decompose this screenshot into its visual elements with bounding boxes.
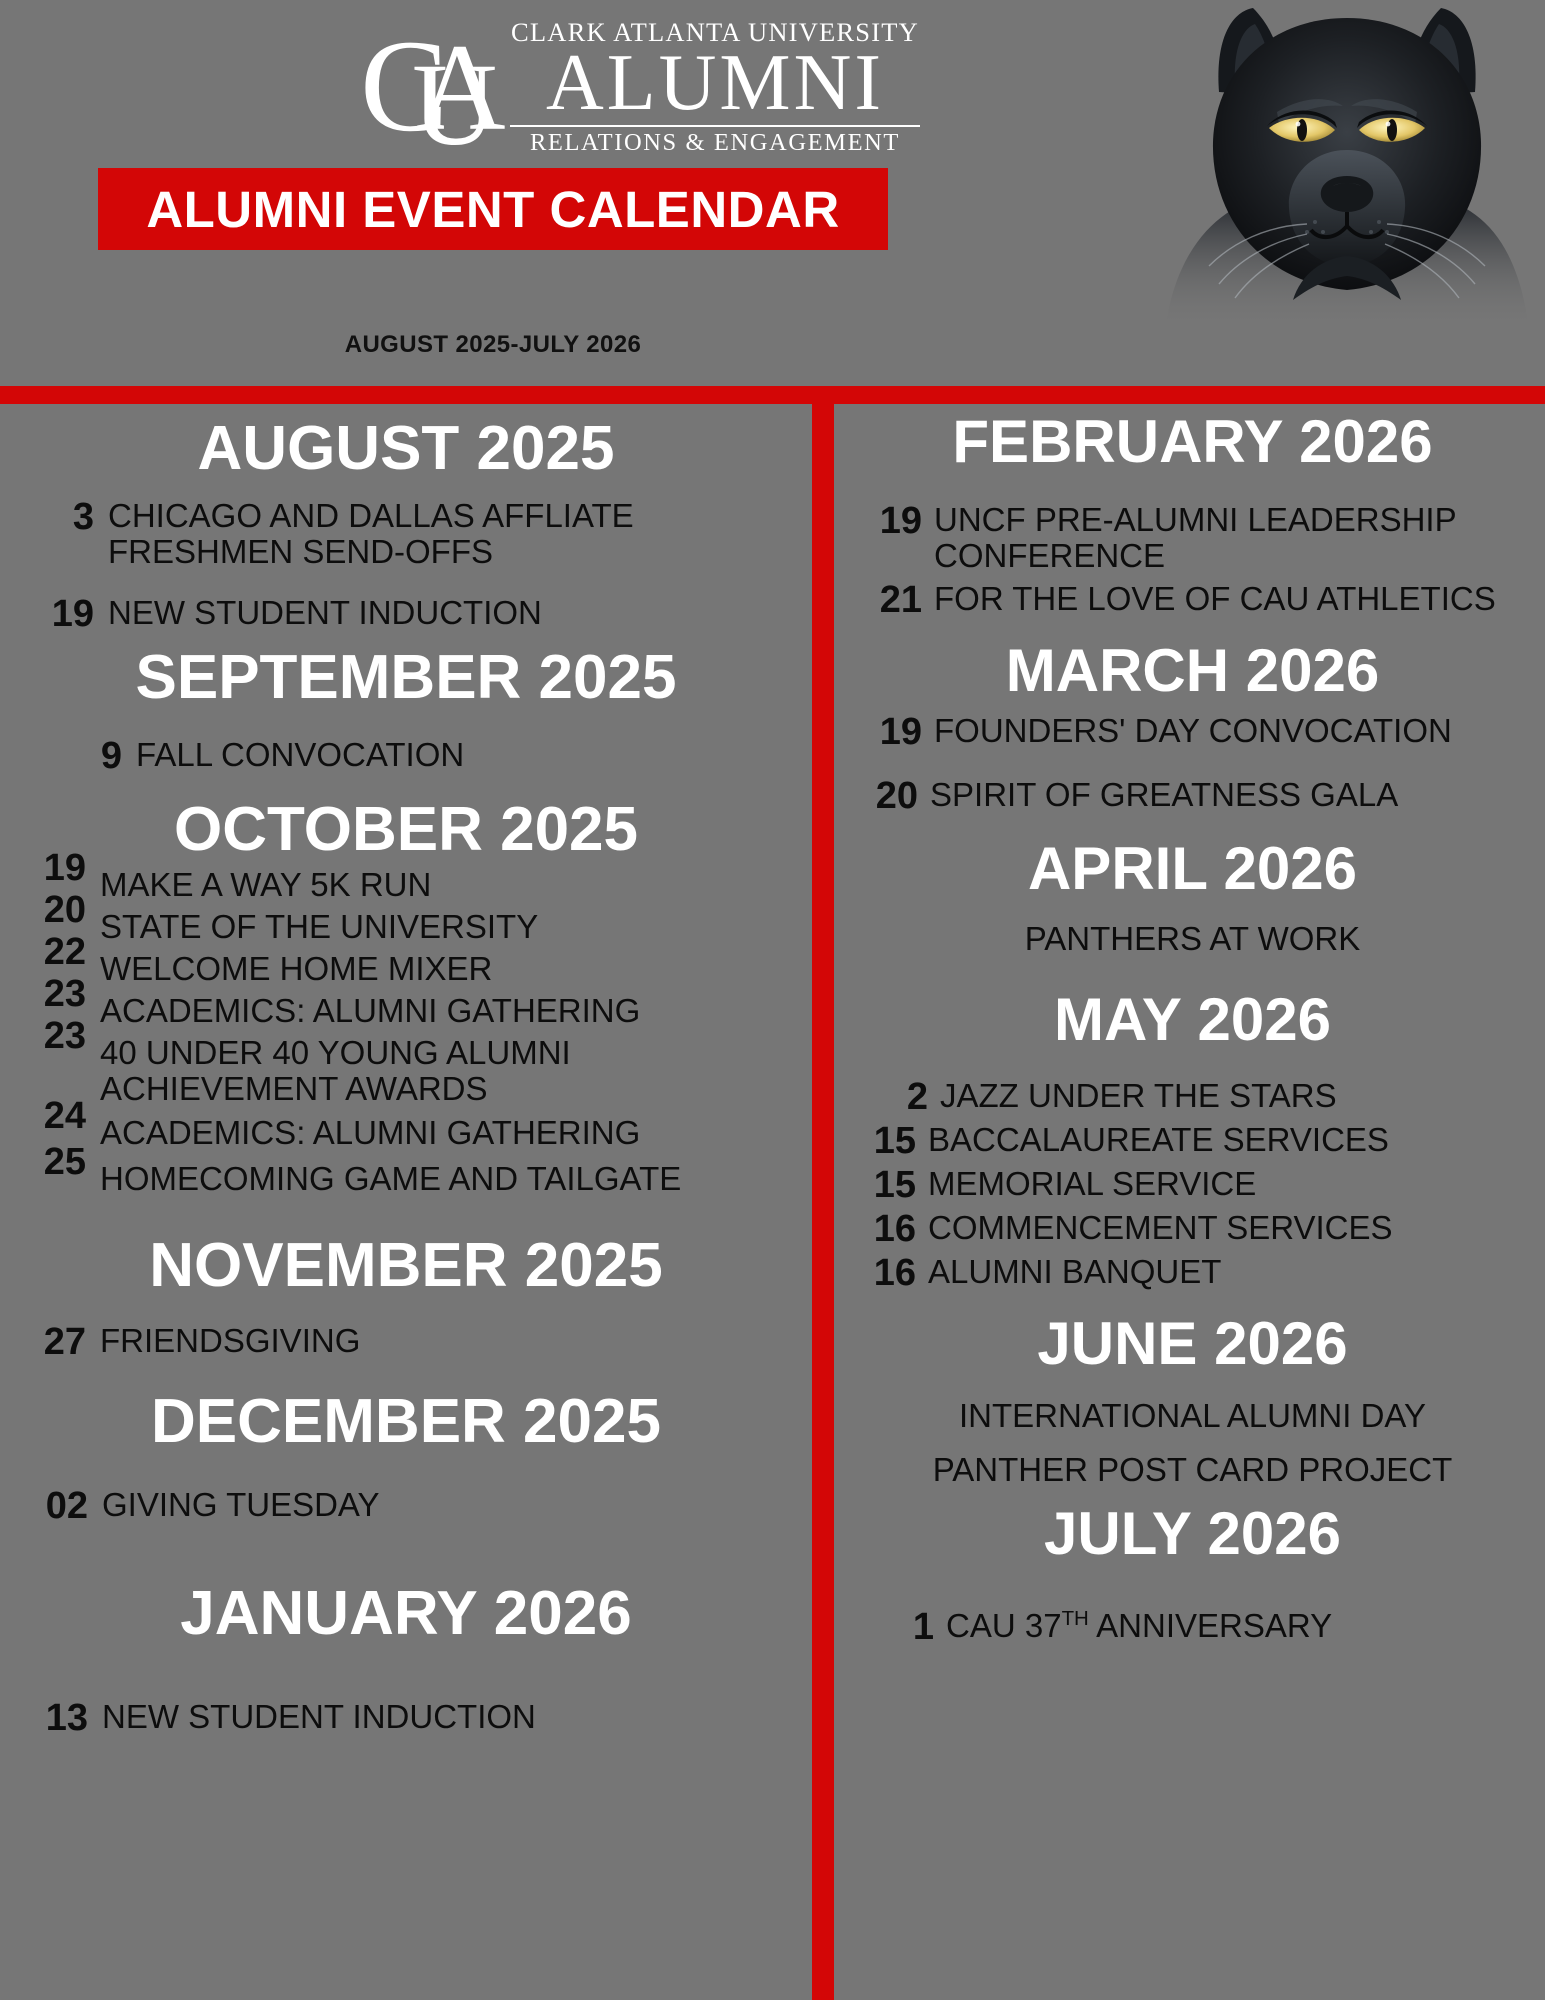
event-day: 20 [28, 891, 100, 929]
event-day: 9 [64, 737, 136, 775]
event-description: BACCALAUREATE SERVICES [928, 1122, 1535, 1158]
event-description: MEMORIAL SERVICE [928, 1166, 1535, 1202]
event-row: 15 MEMORIAL SERVICE [850, 1166, 1535, 1204]
event-row: 21 FOR THE LOVE OF CAU ATHLETICS [850, 581, 1535, 619]
event-description: FALL CONVOCATION [136, 737, 794, 773]
event-description: FOR THE LOVE OF CAU ATHLETICS [934, 581, 1535, 617]
event-day: 23 [28, 975, 100, 1013]
event-description-suffix: ANNIVERSARY [1089, 1607, 1332, 1644]
event-day: 16 [862, 1210, 928, 1248]
event-row: 25 HOMECOMING GAME AND TAILGATE [18, 1161, 794, 1199]
month-heading-january: JANUARY 2026 [18, 1583, 794, 1645]
event-row: 20 STATE OF THE UNIVERSITY [18, 909, 794, 947]
monogram-letter-u: U [412, 46, 497, 164]
event-day: 19 [868, 713, 934, 751]
event-row: 19 UNCF PRE-ALUMNI LEADERSHIP CONFERENCE [850, 502, 1535, 573]
event-row: 9 FALL CONVOCATION [18, 737, 794, 775]
event-day: 19 [36, 595, 108, 633]
horizontal-red-divider [0, 386, 1545, 404]
event-row: 23 ACADEMICS: ALUMNI GATHERING [18, 993, 794, 1031]
event-row: 15 BACCALAUREATE SERVICES [850, 1122, 1535, 1160]
event-description: 40 UNDER 40 YOUNG ALUMNI ACHIEVEMENT AWA… [100, 1035, 794, 1106]
vertical-red-divider [812, 386, 834, 2000]
month-heading-october: OCTOBER 2025 [18, 799, 794, 861]
event-day: 20 [864, 777, 930, 815]
event-description: CHICAGO AND DALLAS AFFLIATE FRESHMEN SEN… [108, 498, 794, 569]
cau-monogram-icon: C A U [360, 20, 510, 155]
month-heading-september: SEPTEMBER 2025 [18, 647, 794, 709]
event-day: 21 [868, 581, 934, 619]
month-heading-april: APRIL 2026 [850, 839, 1535, 899]
event-row: 16 COMMENCEMENT SERVICES [850, 1210, 1535, 1248]
event-description: ALUMNI BANQUET [928, 1254, 1535, 1290]
event-description: CAU 37TH ANNIVERSARY [946, 1608, 1535, 1644]
event-description: FRIENDSGIVING [100, 1323, 794, 1359]
event-row: 2 JAZZ UNDER THE STARS [850, 1078, 1535, 1116]
event-row: 19 FOUNDERS' DAY CONVOCATION [850, 713, 1535, 751]
page-title: ALUMNI EVENT CALENDAR [146, 184, 839, 235]
calendar-columns: AUGUST 2025 3 CHICAGO AND DALLAS AFFLIAT… [0, 404, 1545, 2000]
event-description: UNCF PRE-ALUMNI LEADERSHIP CONFERENCE [934, 502, 1535, 573]
alumni-event-calendar-poster: C A U CLARK ATLANTA UNIVERSITY ALUMNI RE… [0, 0, 1545, 2000]
event-row: 27 FRIENDSGIVING [18, 1323, 794, 1361]
ordinal-suffix: TH [1062, 1607, 1089, 1630]
event-description: FOUNDERS' DAY CONVOCATION [934, 713, 1535, 749]
month-heading-november: NOVEMBER 2025 [18, 1235, 794, 1297]
event-day: 27 [28, 1323, 100, 1361]
black-panther-icon [1157, 0, 1537, 330]
event-row: 19 NEW STUDENT INDUCTION [18, 595, 794, 633]
event-row: 19 MAKE A WAY 5K RUN [18, 867, 794, 905]
event-row: 1 CAU 37TH ANNIVERSARY [850, 1608, 1535, 1646]
event-description: SPIRIT OF GREATNESS GALA [930, 777, 1535, 813]
event-day: 15 [862, 1122, 928, 1160]
event-row: 3 CHICAGO AND DALLAS AFFLIATE FRESHMEN S… [18, 498, 794, 569]
event-description: PANTHERS AT WORK [850, 921, 1535, 957]
event-description: NEW STUDENT INDUCTION [108, 595, 794, 631]
event-row: 13 NEW STUDENT INDUCTION [18, 1699, 794, 1737]
event-description: GIVING TUESDAY [102, 1487, 794, 1523]
event-day: 24 [28, 1097, 100, 1135]
event-description: ACADEMICS: ALUMNI GATHERING [100, 993, 794, 1029]
calendar-column-left: AUGUST 2025 3 CHICAGO AND DALLAS AFFLIAT… [0, 404, 812, 2000]
event-row: 23 40 UNDER 40 YOUNG ALUMNI ACHIEVEMENT … [18, 1035, 794, 1106]
event-day: 16 [862, 1254, 928, 1292]
event-day: 2 [874, 1078, 940, 1116]
event-description: WELCOME HOME MIXER [100, 951, 794, 987]
cau-alumni-logo: C A U CLARK ATLANTA UNIVERSITY ALUMNI RE… [360, 14, 920, 154]
event-row: 24 ACADEMICS: ALUMNI GATHERING [18, 1115, 794, 1153]
event-row: 22 WELCOME HOME MIXER [18, 951, 794, 989]
month-heading-may: MAY 2026 [850, 990, 1535, 1050]
calendar-column-right: FEBRUARY 2026 19 UNCF PRE-ALUMNI LEADERS… [834, 404, 1545, 2000]
event-day: 25 [28, 1143, 100, 1181]
month-heading-march: MARCH 2026 [850, 641, 1535, 701]
logo-wordmark: CLARK ATLANTA UNIVERSITY ALUMNI RELATION… [510, 18, 920, 157]
month-heading-december: DECEMBER 2025 [18, 1391, 794, 1453]
event-description: ACADEMICS: ALUMNI GATHERING [100, 1115, 794, 1151]
event-day: 23 [28, 1017, 100, 1055]
event-description: JAZZ UNDER THE STARS [940, 1078, 1535, 1114]
month-heading-july: JULY 2026 [850, 1504, 1535, 1564]
event-description: NEW STUDENT INDUCTION [102, 1699, 794, 1735]
event-description: STATE OF THE UNIVERSITY [100, 909, 794, 945]
event-day: 19 [28, 849, 100, 887]
event-day: 22 [28, 933, 100, 971]
logo-alumni-word: ALUMNI [510, 45, 920, 122]
event-description: HOMECOMING GAME AND TAILGATE [100, 1161, 794, 1197]
event-description: COMMENCEMENT SERVICES [928, 1210, 1535, 1246]
event-description: INTERNATIONAL ALUMNI DAY [850, 1398, 1535, 1434]
title-banner: ALUMNI EVENT CALENDAR [98, 168, 888, 250]
event-description-prefix: CAU 37 [946, 1607, 1062, 1644]
event-day: 15 [862, 1166, 928, 1204]
event-day: 3 [36, 498, 108, 536]
date-range-subtitle: AUGUST 2025-JULY 2026 [98, 331, 888, 359]
event-row: 16 ALUMNI BANQUET [850, 1254, 1535, 1292]
event-row: 20 SPIRIT OF GREATNESS GALA [850, 777, 1535, 815]
month-heading-june: JUNE 2026 [850, 1314, 1535, 1374]
event-description: MAKE A WAY 5K RUN [100, 867, 794, 903]
month-heading-february: FEBRUARY 2026 [850, 412, 1535, 472]
poster-header: C A U CLARK ATLANTA UNIVERSITY ALUMNI RE… [0, 0, 1545, 390]
event-day: 19 [868, 502, 934, 540]
event-description: PANTHER POST CARD PROJECT [850, 1452, 1535, 1488]
event-day: 13 [30, 1699, 102, 1737]
month-heading-august: AUGUST 2025 [18, 418, 794, 480]
event-day: 1 [880, 1608, 946, 1646]
event-day: 02 [30, 1487, 102, 1525]
logo-relations-engagement: RELATIONS & ENGAGEMENT [510, 130, 920, 157]
event-row: 02 GIVING TUESDAY [18, 1487, 794, 1525]
